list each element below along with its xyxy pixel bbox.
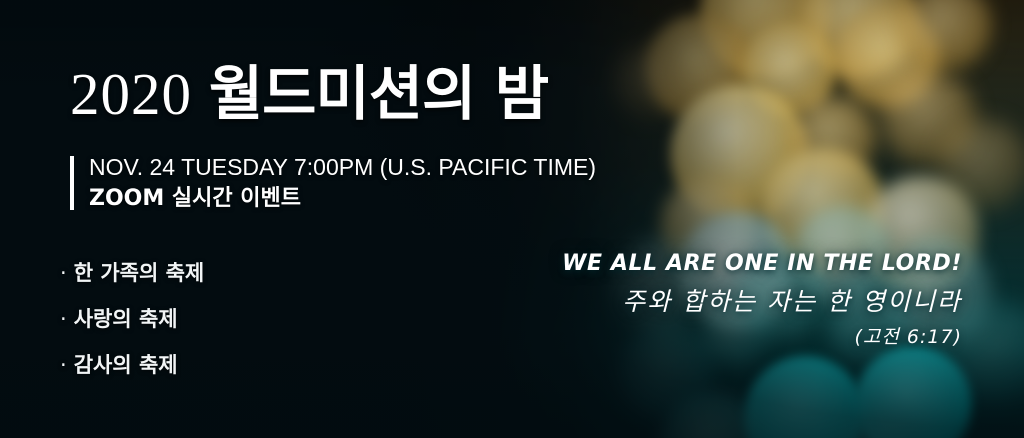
list-item-label: 감사의 축제 — [74, 353, 178, 377]
event-details: NOV. 24 TUESDAY 7:00PM (U.S. PACIFIC TIM… — [70, 152, 596, 214]
event-datetime: NOV. 24 TUESDAY 7:00PM (U.S. PACIFIC TIM… — [89, 152, 596, 183]
event-platform: ZOOM 실시간 이벤트 — [89, 183, 596, 214]
festival-list: ·한 가족의 축제 ·사랑의 축제 ·감사의 축제 — [60, 250, 204, 388]
bullet-marker: · — [60, 307, 67, 331]
scripture-block: WE ALL ARE ONE IN THE LORD! 주와 합하는 자는 한 … — [562, 250, 962, 350]
bullet-marker: · — [60, 261, 67, 285]
accent-bar — [70, 156, 74, 210]
bullet-marker: · — [60, 353, 67, 377]
list-item: ·사랑의 축제 — [60, 296, 204, 342]
list-item: ·감사의 축제 — [60, 342, 204, 388]
event-banner: 2020 월드미션의 밤 NOV. 24 TUESDAY 7:00PM (U.S… — [0, 0, 1024, 438]
scripture-reference: (고전 6:17) — [562, 324, 962, 350]
scripture-korean: 주와 합하는 자는 한 영이니라 — [562, 282, 962, 322]
page-title: 2020 월드미션의 밤 — [70, 64, 548, 124]
title-year: 2020 — [70, 61, 192, 127]
list-item-label: 사랑의 축제 — [74, 307, 178, 331]
title-korean: 월드미션의 밤 — [209, 59, 548, 128]
event-detail-lines: NOV. 24 TUESDAY 7:00PM (U.S. PACIFIC TIM… — [89, 152, 596, 214]
list-item: ·한 가족의 축제 — [60, 250, 204, 296]
list-item-label: 한 가족의 축제 — [74, 261, 205, 285]
scripture-english: WE ALL ARE ONE IN THE LORD! — [562, 250, 962, 278]
banner-content: 2020 월드미션의 밤 NOV. 24 TUESDAY 7:00PM (U.S… — [0, 0, 1024, 438]
